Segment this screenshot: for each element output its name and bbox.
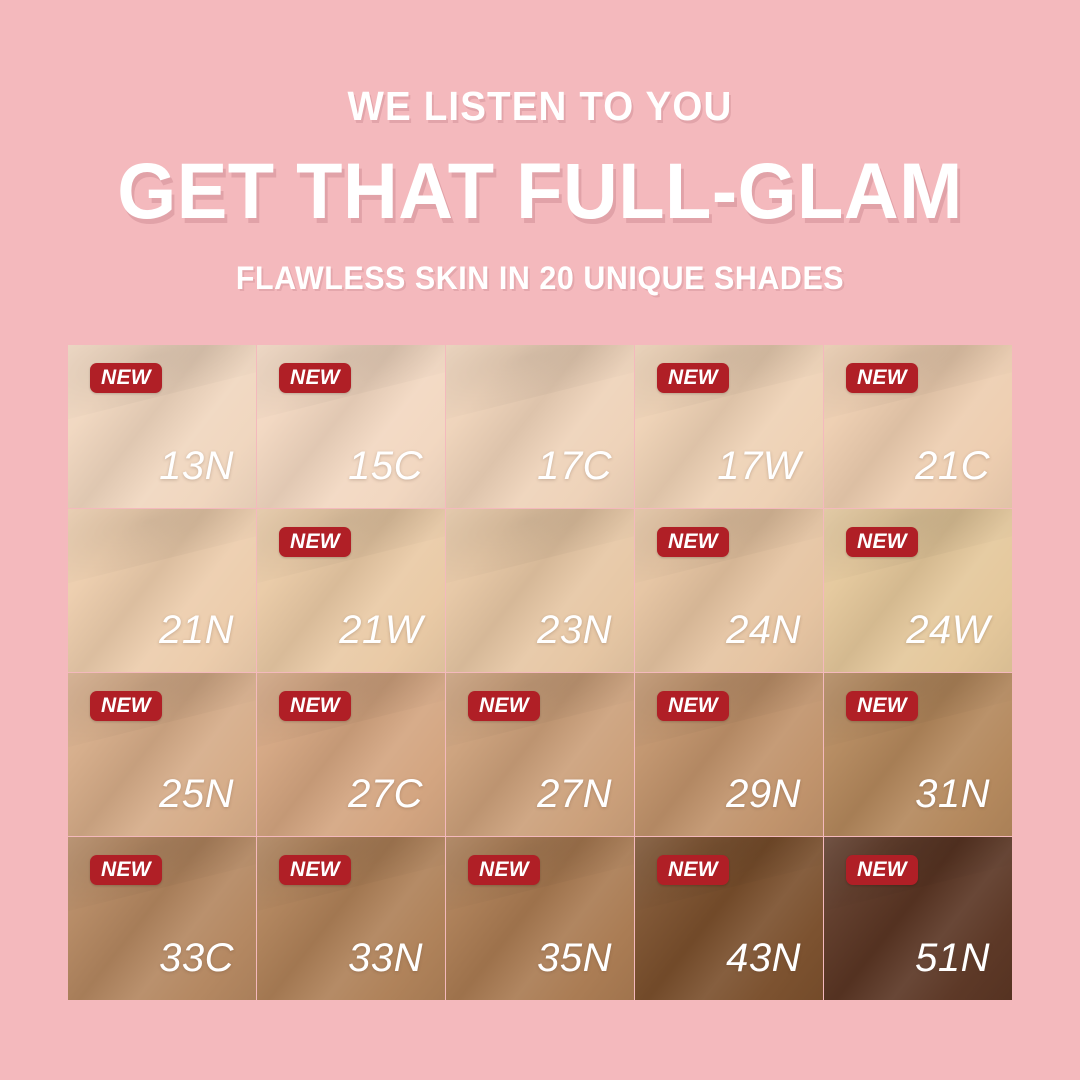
shade-swatch[interactable]: NEW13N xyxy=(68,345,256,508)
shade-code-label: 27C xyxy=(348,774,423,814)
shade-code-label: 17C xyxy=(537,446,612,486)
shade-swatch[interactable]: NEW24N xyxy=(635,509,823,672)
shade-code-label: 21N xyxy=(159,610,234,650)
shade-swatch[interactable]: NEW33N xyxy=(257,837,445,1000)
shade-swatch[interactable]: NEW21N xyxy=(68,509,256,672)
shade-swatch[interactable]: NEW27C xyxy=(257,673,445,836)
new-badge: NEW xyxy=(846,363,918,393)
shade-swatch[interactable]: NEW21W xyxy=(257,509,445,672)
shade-code-label: 24W xyxy=(906,610,990,650)
shade-code-label: 24N xyxy=(726,610,801,650)
shade-code-label: 13N xyxy=(159,446,234,486)
shade-code-label: 25N xyxy=(159,774,234,814)
subtitle-text: FLAWLESS SKIN IN 20 UNIQUE SHADES xyxy=(27,262,1053,294)
new-badge: NEW xyxy=(657,363,729,393)
shade-code-label: 51N xyxy=(915,938,990,978)
shade-swatch[interactable]: NEW25N xyxy=(68,673,256,836)
shade-swatch[interactable]: NEW23N xyxy=(446,509,634,672)
shade-swatch[interactable]: NEW31N xyxy=(824,673,1012,836)
shade-code-label: 17W xyxy=(717,446,801,486)
promo-header: WE LISTEN TO YOU GET THAT FULL-GLAM FLAW… xyxy=(0,0,1080,294)
shade-swatch[interactable]: NEW33C xyxy=(68,837,256,1000)
new-badge: NEW xyxy=(846,855,918,885)
new-badge: NEW xyxy=(657,527,729,557)
shade-swatch[interactable]: NEW43N xyxy=(635,837,823,1000)
new-badge: NEW xyxy=(90,363,162,393)
page-title: GET THAT FULL-GLAM xyxy=(22,151,1059,230)
new-badge: NEW xyxy=(846,527,918,557)
new-badge: NEW xyxy=(279,691,351,721)
shade-code-label: 31N xyxy=(915,774,990,814)
new-badge: NEW xyxy=(468,691,540,721)
shade-code-label: 23N xyxy=(537,610,612,650)
shade-swatch[interactable]: NEW17W xyxy=(635,345,823,508)
shade-swatch[interactable]: NEW27N xyxy=(446,673,634,836)
new-badge: NEW xyxy=(90,855,162,885)
shade-swatch[interactable]: NEW51N xyxy=(824,837,1012,1000)
new-badge: NEW xyxy=(279,363,351,393)
shade-code-label: 27N xyxy=(537,774,612,814)
shade-code-label: 35N xyxy=(537,938,612,978)
shade-swatch[interactable]: NEW35N xyxy=(446,837,634,1000)
new-badge: NEW xyxy=(657,855,729,885)
shade-code-label: 43N xyxy=(726,938,801,978)
new-badge: NEW xyxy=(846,691,918,721)
shade-grid: NEW13NNEW15CNEW17CNEW17WNEW21CNEW21NNEW2… xyxy=(68,345,1012,1000)
new-badge: NEW xyxy=(468,855,540,885)
new-badge: NEW xyxy=(657,691,729,721)
shade-swatch[interactable]: NEW21C xyxy=(824,345,1012,508)
shade-swatch[interactable]: NEW29N xyxy=(635,673,823,836)
new-badge: NEW xyxy=(90,691,162,721)
eyebrow-text: WE LISTEN TO YOU xyxy=(32,86,1047,127)
shade-code-label: 15C xyxy=(348,446,423,486)
new-badge: NEW xyxy=(279,527,351,557)
shade-code-label: 21W xyxy=(339,610,423,650)
shade-swatch[interactable]: NEW17C xyxy=(446,345,634,508)
shade-code-label: 33C xyxy=(159,938,234,978)
new-badge: NEW xyxy=(279,855,351,885)
shade-swatch[interactable]: NEW15C xyxy=(257,345,445,508)
shade-swatch[interactable]: NEW24W xyxy=(824,509,1012,672)
shade-code-label: 21C xyxy=(915,446,990,486)
shade-code-label: 33N xyxy=(348,938,423,978)
shade-code-label: 29N xyxy=(726,774,801,814)
